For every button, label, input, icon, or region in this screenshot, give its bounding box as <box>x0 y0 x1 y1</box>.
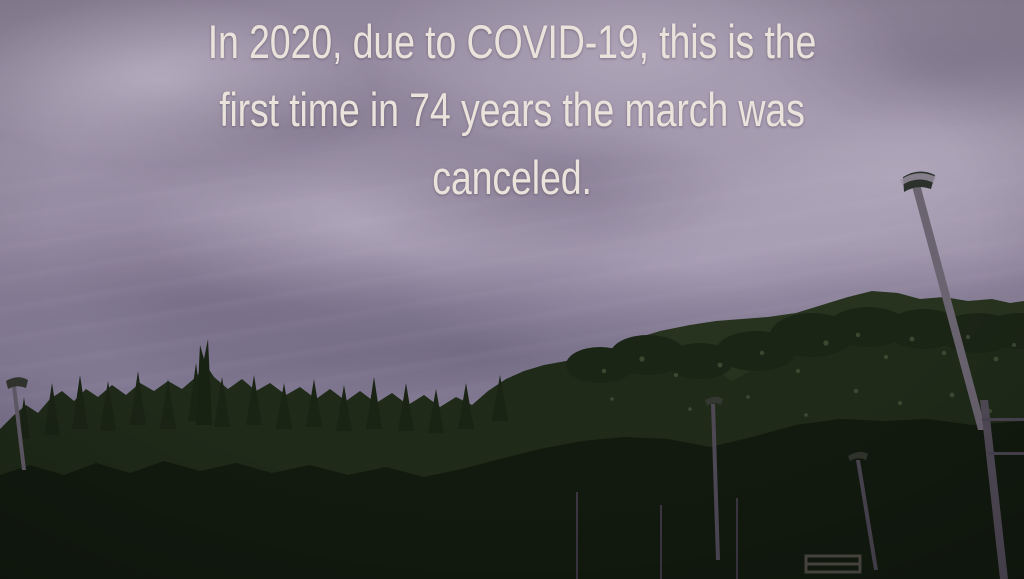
caption-line-2: first time in 74 years the march was <box>102 76 921 144</box>
forest-silhouette <box>0 279 1024 579</box>
caption-overlay: In 2020, due to COVID-19, this is the fi… <box>102 8 921 212</box>
video-frame: In 2020, due to COVID-19, this is the fi… <box>0 0 1024 579</box>
caption-line-1: In 2020, due to COVID-19, this is the <box>102 8 921 76</box>
caption-line-3: canceled. <box>102 144 921 212</box>
tall-thin-spire <box>196 339 212 425</box>
